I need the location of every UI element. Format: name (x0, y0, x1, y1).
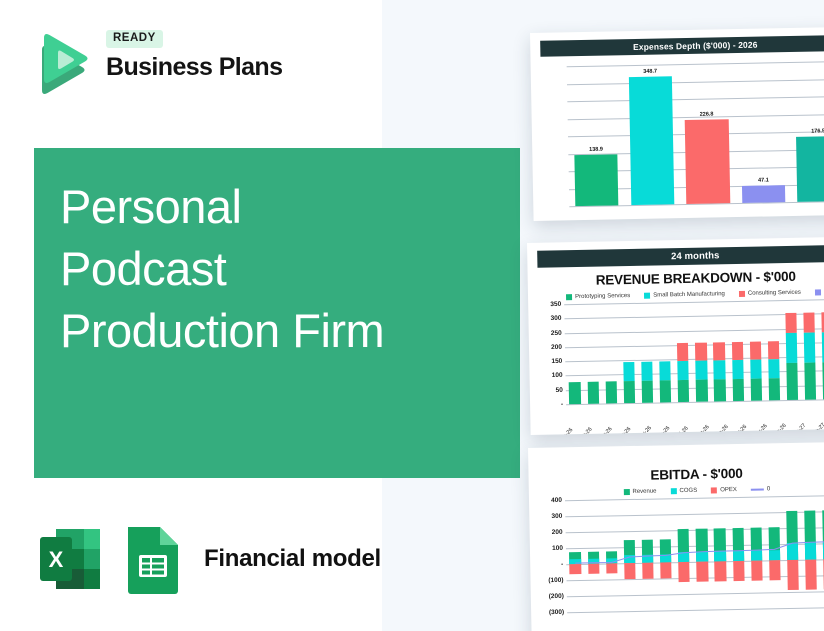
legend-label: Revenue (632, 489, 656, 495)
chart-card-expenses-depth: Expenses Depth ($'000) - 2026 138.9348.7… (530, 27, 824, 221)
svg-text:X: X (49, 547, 64, 572)
chart-title-revenue: REVENUE BREAKDOWN - $'000 (538, 268, 824, 289)
legend-item: Prototyping Services (566, 293, 630, 300)
legend-label: Prototyping Services (575, 293, 630, 300)
y-tick-label: (100) (548, 577, 563, 584)
ebitda-legend: RevenueCOGSOPEX0 (539, 485, 824, 497)
y-tick-label: 200 (551, 344, 562, 351)
bar-segment (750, 342, 762, 359)
y-tick-label: 100 (552, 545, 563, 552)
x-tick-label: Jan-26 (558, 426, 576, 435)
revenue-y-axis: 35030025020015010050- (538, 304, 566, 404)
expenses-plot: 138.9348.7226.847.1176.5 (541, 61, 824, 207)
bar-segment (677, 361, 689, 381)
legend-item: Consulting Services (739, 290, 801, 297)
y-tick-label: (200) (549, 593, 564, 600)
footer-label: Financial model (204, 545, 381, 573)
bar-value-label: 138.9 (589, 146, 603, 152)
y-tick-label: 100 (552, 372, 563, 379)
bar-segment (587, 382, 599, 404)
bar (574, 154, 618, 206)
chart-header-expenses: Expenses Depth ($'000) - 2026 (540, 35, 824, 57)
title-banner: Personal Podcast Production Firm (34, 148, 520, 478)
y-tick-label: 300 (551, 513, 562, 520)
page-title-line-3: Production Firm (60, 300, 500, 362)
y-tick-label: - (561, 401, 563, 408)
poster-canvas: READY Business Plans Personal Podcast Pr… (0, 0, 824, 631)
bar-segment (695, 343, 707, 360)
legend-label: Small Batch Manufacturing (653, 291, 725, 298)
page-title-line-1: Personal (60, 176, 500, 238)
bar-segment (804, 333, 816, 363)
chart-card-revenue-breakdown: 24 months REVENUE BREAKDOWN - $'000 Prot… (527, 237, 824, 435)
bar-segment (750, 359, 762, 379)
chart-card-ebitda: EBITDA - $'000 RevenueCOGSOPEX0 40030020… (528, 442, 824, 631)
x-tick-label: Feb-26 (577, 426, 595, 435)
legend-item: 0 (751, 486, 770, 492)
bar-slot: 47.1 (733, 62, 791, 203)
bar-segment (768, 359, 780, 379)
bar (742, 185, 786, 203)
ebitda-plot: 400300200100-(100)(200)(300) (539, 495, 824, 613)
chart-title-ebitda: EBITDA - $'000 (538, 464, 824, 485)
bar-slot (564, 304, 584, 404)
bar-segment (659, 361, 671, 381)
bar-segment (785, 313, 797, 334)
bar-slot (800, 299, 820, 399)
bar-segment (696, 380, 708, 402)
bar-segment (732, 359, 744, 379)
y-tick-label: 300 (551, 315, 562, 322)
bar-slot: 226.8 (678, 63, 736, 204)
bar-segment (750, 379, 762, 401)
y-tick-label: (300) (549, 609, 564, 616)
bar-segment (786, 363, 798, 400)
bar-segment (569, 382, 581, 404)
bar-segment (804, 363, 816, 400)
ready-badge: READY (106, 30, 163, 48)
bar-slot (637, 303, 657, 403)
bar-segment (768, 342, 780, 359)
bar-segment (623, 381, 635, 403)
bar-segment (660, 381, 672, 403)
legend-swatch (751, 488, 764, 490)
bar-slot (745, 300, 765, 400)
legend-swatch (623, 489, 629, 495)
bar-segment (641, 361, 653, 381)
bar-segment (642, 381, 654, 403)
legend-label: OPEX (720, 487, 737, 493)
bar-segment (714, 360, 726, 380)
page-title-line-2: Podcast (60, 238, 500, 300)
y-tick-label: 50 (556, 387, 563, 394)
bar-segment (768, 378, 780, 400)
bar-slot (691, 302, 711, 402)
bar-slot (655, 302, 675, 402)
legend-swatch (815, 289, 821, 295)
bar-slot (782, 300, 802, 400)
expenses-bars: 138.9348.7226.847.1176.5 (567, 61, 824, 206)
play-triangle-logo-icon (28, 30, 94, 96)
brand-text: READY Business Plans (106, 28, 282, 80)
legend-item: COGS (670, 488, 697, 495)
bar-slot (673, 302, 693, 402)
bar-slot (727, 301, 747, 401)
y-tick-label: 250 (551, 329, 562, 336)
brand-lockup: READY Business Plans (28, 28, 358, 103)
bar-segment (732, 379, 744, 401)
bar-slot: 138.9 (567, 65, 625, 206)
legend-item: - (815, 289, 824, 295)
microsoft-excel-icon: X (34, 523, 106, 595)
bar-slot (764, 300, 784, 400)
legend-swatch (711, 487, 717, 493)
bar-value-label: 348.7 (643, 68, 657, 74)
y-tick-label: 150 (551, 358, 562, 365)
bar-slot (709, 301, 729, 401)
legend-item: OPEX (711, 487, 737, 493)
legend-swatch (739, 291, 745, 297)
google-sheets-icon (122, 523, 184, 595)
chart-header-24-months: 24 months (537, 245, 824, 268)
bar-slot: 176.5 (789, 61, 824, 202)
bar-segment (786, 333, 798, 363)
bar-segment (732, 342, 744, 359)
brand-name: Business Plans (106, 55, 282, 80)
legend-label: COGS (679, 488, 697, 494)
y-tick-label: 400 (551, 497, 562, 504)
ebitda-zero-line (565, 495, 824, 613)
bar-segment (623, 362, 635, 382)
bar-slot (600, 303, 620, 403)
legend-label: Consulting Services (748, 290, 801, 297)
y-tick-label: 350 (550, 301, 561, 308)
legend-item: Revenue (623, 489, 656, 496)
zero-trend-line (575, 541, 824, 563)
bar-value-label: 176.5 (811, 128, 824, 134)
bar-value-label: 47.1 (758, 177, 769, 183)
page-title: Personal Podcast Production Firm (60, 176, 500, 362)
bar (629, 76, 675, 205)
bar-segment (696, 360, 708, 380)
legend-swatch (644, 293, 650, 299)
bar-slot (818, 299, 824, 399)
bar-segment (677, 343, 689, 360)
bar-segment (714, 380, 726, 402)
bar-segment (678, 380, 690, 402)
bar-segment (803, 312, 815, 333)
bar-segment (605, 382, 617, 404)
legend-swatch (670, 488, 676, 494)
y-tick-label: 200 (552, 529, 563, 536)
legend-label: 0 (767, 486, 770, 492)
bar-segment (713, 343, 725, 360)
bar-slot: 348.7 (622, 64, 680, 205)
legend-swatch (566, 294, 572, 300)
footer-row: X Financial model (34, 523, 381, 595)
legend-item: Small Batch Manufacturing (644, 291, 725, 299)
revenue-plot: 35030025020015010050- (538, 299, 824, 405)
bar-slot (582, 304, 602, 404)
ebitda-y-axis: 400300200100-(100)(200)(300) (539, 500, 567, 612)
bar-slot (619, 303, 639, 403)
bar-value-label: 226.8 (700, 112, 714, 118)
y-tick-label: - (561, 561, 563, 568)
bar (797, 136, 824, 202)
revenue-legend: Prototyping ServicesSmall Batch Manufact… (538, 289, 824, 301)
revenue-bars (564, 299, 824, 405)
bar (685, 120, 730, 204)
